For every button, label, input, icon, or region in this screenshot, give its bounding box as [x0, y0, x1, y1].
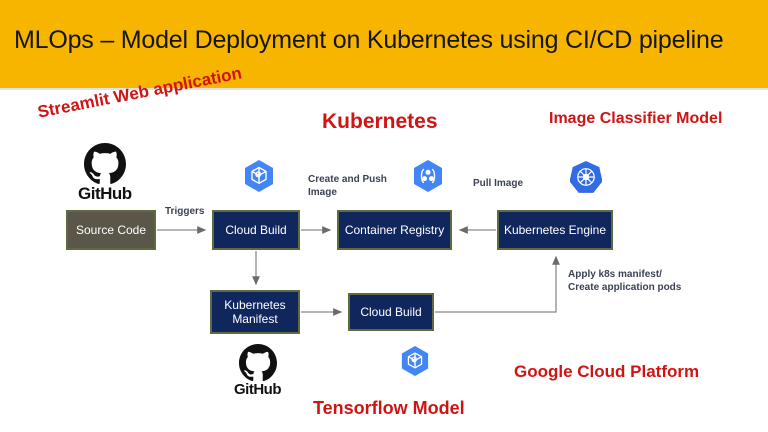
google-cloud-build-icon — [400, 345, 430, 382]
annotation-tensorflow: Tensorflow Model — [313, 398, 465, 419]
github-logo-top: GitHub — [78, 143, 132, 204]
kubernetes-wheel-icon — [570, 160, 602, 199]
slide-canvas: MLOps – Model Deployment on Kubernetes u… — [0, 0, 768, 432]
github-icon — [239, 344, 277, 382]
node-cloud-build-top[interactable]: Cloud Build — [212, 210, 300, 250]
google-container-registry-icon — [412, 159, 444, 198]
edge-label-apply-k8s: Apply k8s manifest/ Create application p… — [568, 268, 681, 294]
node-cloud-build-top-label: Cloud Build — [225, 223, 286, 237]
edge-label-create-push: Create and Push Image — [308, 173, 387, 199]
node-cloud-build-bottom-label: Cloud Build — [360, 305, 421, 319]
node-kubernetes-engine-label: Kubernetes Engine — [504, 223, 606, 237]
github-icon — [84, 143, 126, 185]
node-source-code-label: Source Code — [76, 223, 146, 237]
arrow-cloudbuild-to-engine — [435, 257, 556, 312]
google-cloud-build-icon — [243, 159, 275, 198]
page-title: MLOps – Model Deployment on Kubernetes u… — [14, 26, 723, 55]
annotation-image-classifier: Image Classifier Model — [549, 110, 722, 128]
node-kubernetes-manifest-label: Kubernetes Manifest — [224, 298, 285, 326]
edge-label-triggers: Triggers — [165, 205, 204, 218]
node-kubernetes-manifest[interactable]: Kubernetes Manifest — [210, 290, 300, 334]
github-logo-bottom: GitHub — [234, 344, 281, 398]
edge-label-pull-image: Pull Image — [473, 177, 523, 190]
node-kubernetes-engine[interactable]: Kubernetes Engine — [497, 210, 613, 250]
annotation-google-cloud-platform: Google Cloud Platform — [514, 362, 699, 382]
title-banner: MLOps – Model Deployment on Kubernetes u… — [0, 0, 768, 88]
annotation-kubernetes: Kubernetes — [322, 110, 438, 134]
node-container-registry[interactable]: Container Registry — [337, 210, 452, 250]
node-container-registry-label: Container Registry — [345, 223, 444, 237]
node-cloud-build-bottom[interactable]: Cloud Build — [348, 293, 434, 331]
github-wordmark: GitHub — [78, 184, 132, 204]
node-source-code[interactable]: Source Code — [66, 210, 156, 250]
github-wordmark: GitHub — [234, 381, 281, 398]
